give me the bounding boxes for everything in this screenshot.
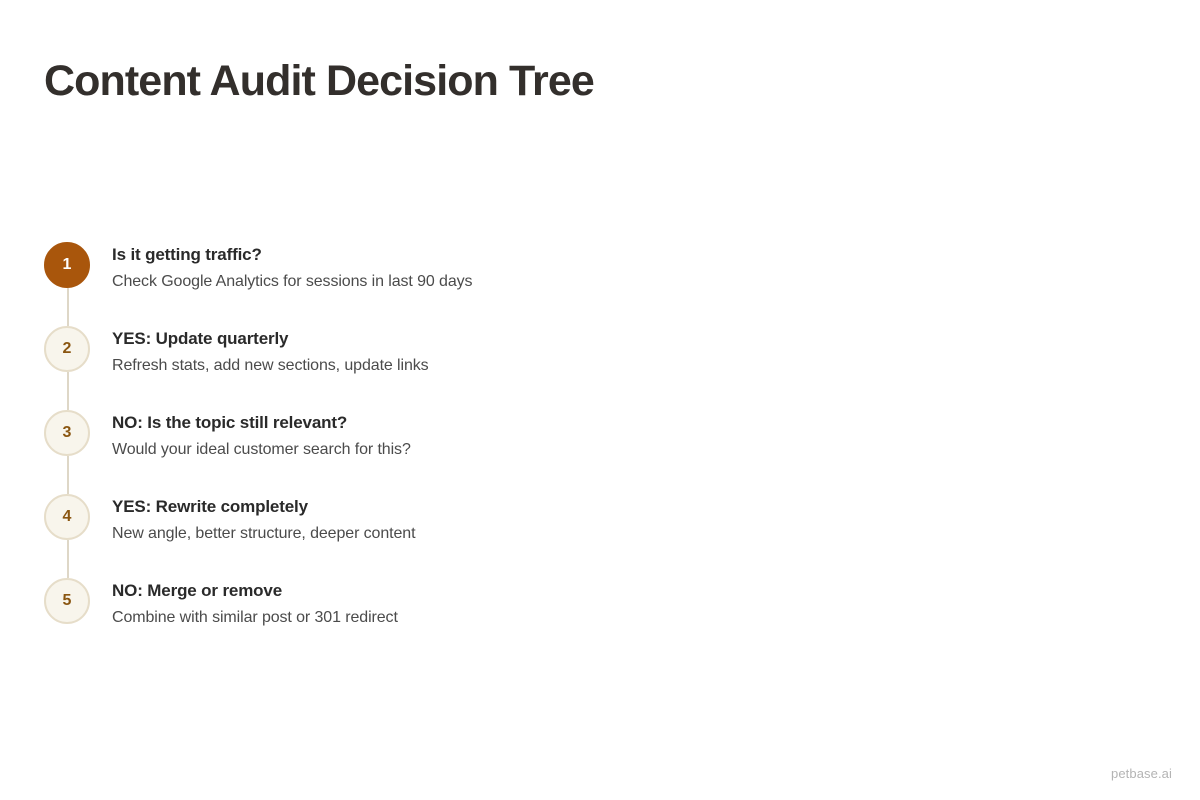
step-title-4: YES: Rewrite completely — [112, 496, 415, 517]
step-title-1: Is it getting traffic? — [112, 244, 472, 265]
decision-step-list: 1 Is it getting traffic? Check Google An… — [44, 242, 744, 662]
step-number-label: 3 — [63, 424, 72, 442]
step-connector-line — [67, 540, 69, 578]
step-connector-line — [67, 456, 69, 494]
list-item[interactable]: 2 YES: Update quarterly Refresh stats, a… — [44, 326, 744, 410]
step-description-1: Check Google Analytics for sessions in l… — [112, 272, 472, 293]
step-marker-2[interactable]: 2 — [44, 326, 90, 372]
step-description-4: New angle, better structure, deeper cont… — [112, 524, 415, 545]
step-description-3: Would your ideal customer search for thi… — [112, 440, 411, 461]
step-marker-1[interactable]: 1 — [44, 242, 90, 288]
step-description-2: Refresh stats, add new sections, update … — [112, 356, 429, 377]
list-item[interactable]: 3 NO: Is the topic still relevant? Would… — [44, 410, 744, 494]
step-number-label: 2 — [63, 340, 72, 358]
step-content-2: YES: Update quarterly Refresh stats, add… — [90, 326, 429, 377]
step-marker-4[interactable]: 4 — [44, 494, 90, 540]
list-item[interactable]: 5 NO: Merge or remove Combine with simil… — [44, 578, 744, 662]
watermark-label: petbase.ai — [1111, 766, 1172, 781]
step-title-3: NO: Is the topic still relevant? — [112, 412, 411, 433]
step-connector-line — [67, 288, 69, 326]
list-item[interactable]: 4 YES: Rewrite completely New angle, bet… — [44, 494, 744, 578]
page-title: Content Audit Decision Tree — [44, 57, 594, 105]
step-number-label: 4 — [63, 508, 72, 526]
decision-tree-canvas: Content Audit Decision Tree 1 Is it gett… — [0, 0, 1200, 800]
step-marker-5[interactable]: 5 — [44, 578, 90, 624]
step-content-4: YES: Rewrite completely New angle, bette… — [90, 494, 415, 545]
step-connector-line — [67, 372, 69, 410]
step-content-1: Is it getting traffic? Check Google Anal… — [90, 242, 472, 293]
step-description-5: Combine with similar post or 301 redirec… — [112, 608, 398, 629]
step-number-label: 5 — [63, 592, 72, 610]
step-content-3: NO: Is the topic still relevant? Would y… — [90, 410, 411, 461]
step-title-5: NO: Merge or remove — [112, 580, 398, 601]
list-item[interactable]: 1 Is it getting traffic? Check Google An… — [44, 242, 744, 326]
step-number-label: 1 — [63, 256, 72, 274]
step-content-5: NO: Merge or remove Combine with similar… — [90, 578, 398, 629]
step-title-2: YES: Update quarterly — [112, 328, 429, 349]
step-marker-3[interactable]: 3 — [44, 410, 90, 456]
